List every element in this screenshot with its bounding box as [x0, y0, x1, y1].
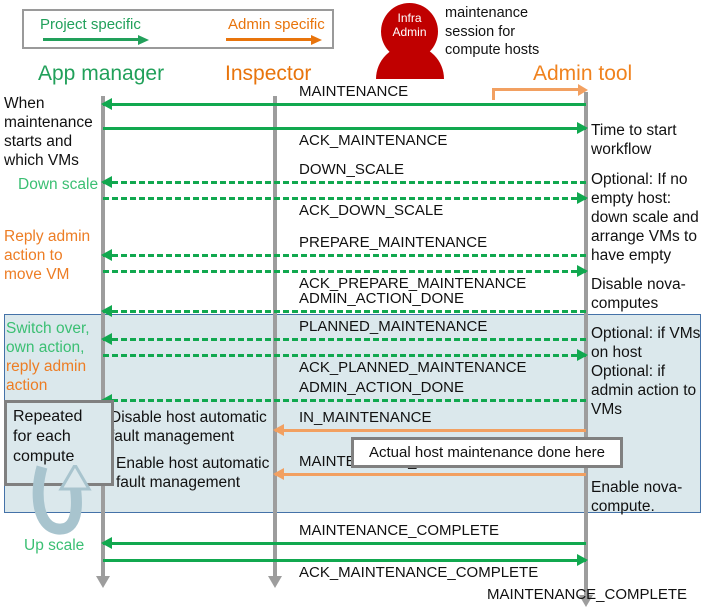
lifeline-inspector-arrow: [268, 576, 282, 588]
message-line: [103, 127, 586, 130]
infra-admin-icon-text: Infra Admin: [381, 11, 438, 39]
message-label: ADMIN_ACTION_DONE: [299, 379, 464, 396]
message-line: [103, 399, 586, 402]
message-label: ACK_DOWN_SCALE: [299, 202, 443, 219]
admin-elbow-horizontal: [492, 88, 580, 91]
message-label: PLANNED_MAINTENANCE: [299, 318, 487, 335]
actor-app-manager: App manager: [38, 62, 164, 86]
lifeline-inspector: [273, 96, 277, 576]
message-line: [103, 254, 586, 257]
message-arrow-head: [101, 249, 112, 261]
lifeline-app-manager-arrow: [96, 576, 110, 588]
note-disable-nova-computes: Disable nova-computes: [591, 275, 703, 313]
message-arrow-head: [577, 192, 588, 204]
message-arrow-head: [577, 122, 588, 134]
message-arrow-head: [101, 333, 112, 345]
message-arrow-head: [101, 305, 112, 317]
message-label: IN_MAINTENANCE: [299, 409, 432, 426]
message-line: [103, 270, 586, 273]
message-line: [103, 197, 586, 200]
note-switch-over: Switch over, own action,: [6, 319, 98, 357]
legend-admin-arrow-head: [311, 35, 322, 45]
message-line: [275, 429, 586, 432]
note-down-scale: Down scale: [18, 175, 104, 194]
message-arrow-head: [577, 349, 588, 361]
message-label: ACK_MAINTENANCE: [299, 132, 447, 149]
message-arrow-head: [577, 554, 588, 566]
message-line: [103, 310, 586, 313]
legend-project-arrow-line: [43, 38, 139, 41]
repeat-loop-arrow-icon: [28, 465, 98, 545]
message-label: DOWN_SCALE: [299, 161, 404, 178]
note-optional-admin-action: Optional: if admin action to VMs: [591, 362, 707, 419]
message-line: [103, 542, 586, 545]
message-line: [103, 181, 586, 184]
legend-project-arrow-head: [138, 35, 149, 45]
message-arrow-head: [101, 98, 112, 110]
message-label: ADMIN_ACTION_DONE: [299, 290, 464, 307]
label-bottom-maintenance-complete: MAINTENANCE_COMPLETE: [487, 586, 687, 603]
legend-admin-arrow-line: [226, 38, 312, 41]
note-optional-no-empty-host: Optional: If no empty host: down scale a…: [591, 170, 709, 265]
note-disable-fault-management: Disable host automatic fault management: [110, 408, 275, 446]
message-line: [103, 338, 586, 341]
note-enable-fault-management: Enable host automatic fault management: [116, 454, 276, 492]
note-optional-vms-on-host: Optional: if VMs on host: [591, 324, 707, 362]
note-time-to-start-workflow: Time to start workflow: [591, 121, 707, 159]
callout-actual-maintenance: Actual host maintenance done here: [351, 437, 623, 468]
message-label: ACK_PLANNED_MAINTENANCE: [299, 359, 527, 376]
legend-admin-label: Admin specific: [228, 16, 325, 33]
message-line: [103, 559, 586, 562]
message-line: [275, 473, 586, 476]
message-label: MAINTENANCE_COMPLETE: [299, 522, 499, 539]
note-enable-nova-compute: Enable nova-compute.: [591, 478, 703, 516]
legend-project-label: Project specific: [40, 16, 141, 33]
message-label: ACK_MAINTENANCE_COMPLETE: [299, 564, 538, 581]
sequence-diagram: Project specific Admin specific Infra Ad…: [0, 0, 710, 613]
note-when-maintenance: When maintenance starts and which VMs: [4, 94, 99, 170]
actor-admin-tool: Admin tool: [533, 62, 632, 86]
note-reply-admin-move-vm: Reply admin action to move VM: [4, 227, 99, 284]
message-line: [103, 354, 586, 357]
note-reply-admin-action: reply admin action: [6, 357, 98, 395]
message-label: PREPARE_MAINTENANCE: [299, 234, 487, 251]
message-line: [103, 103, 586, 106]
lifeline-admin-tool: [584, 92, 588, 595]
infra-admin-line2: Admin: [381, 25, 438, 39]
message-label: MAINTENANCE: [299, 83, 408, 100]
infra-admin-caption: maintenance session for compute hosts: [445, 4, 555, 60]
infra-admin-line1: Infra: [381, 11, 438, 25]
message-arrow-head: [577, 265, 588, 277]
